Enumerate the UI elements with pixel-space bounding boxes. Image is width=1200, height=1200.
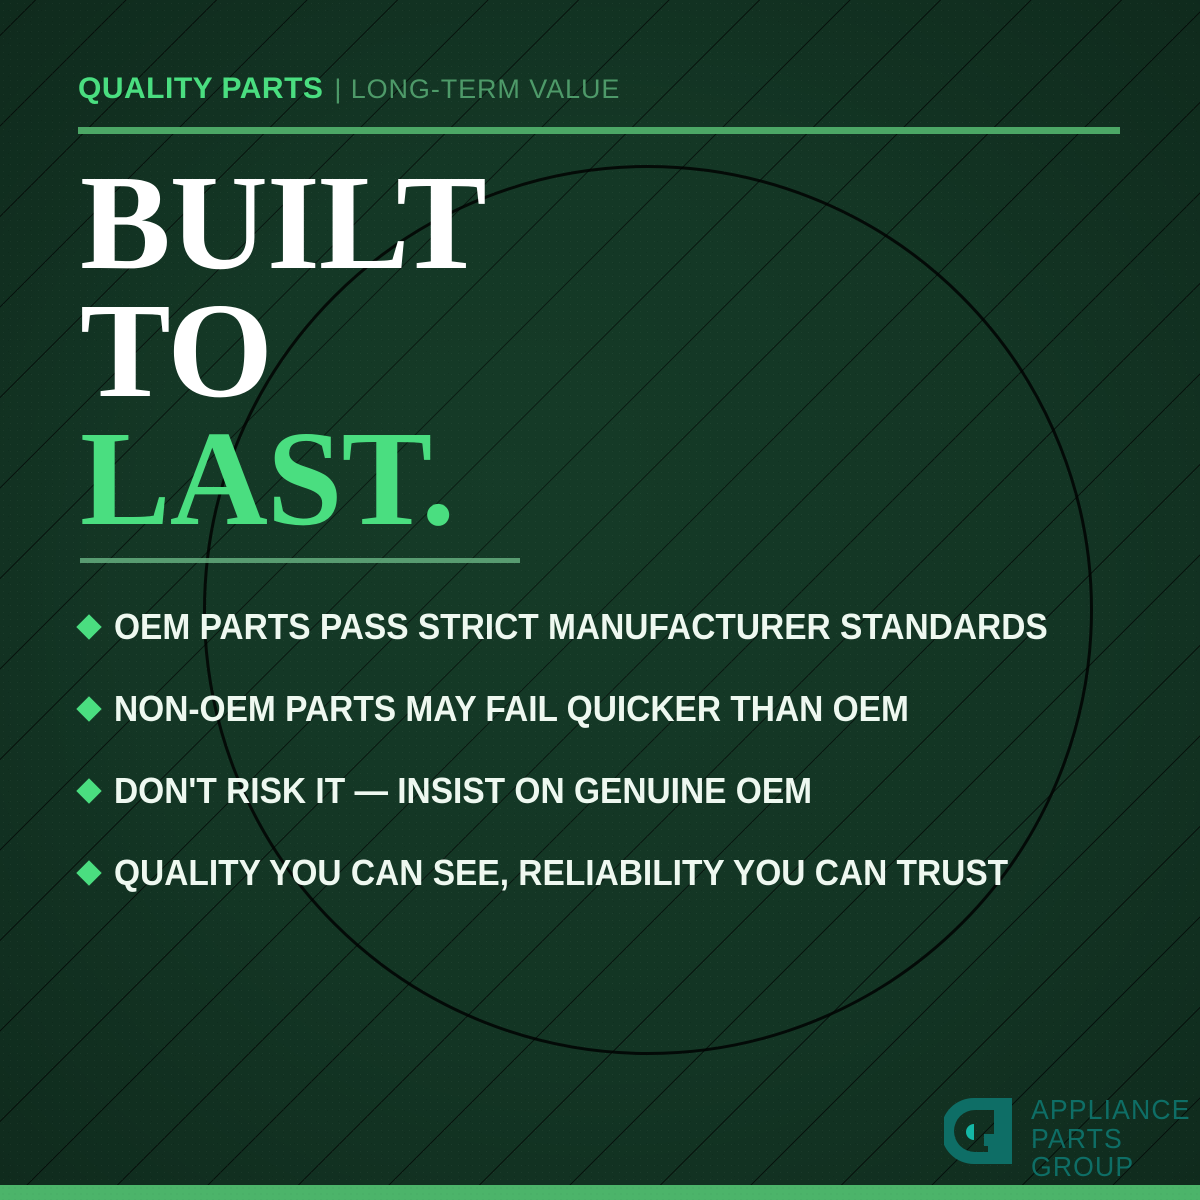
list-item: NON-OEM PARTS MAY FAIL QUICKER THAN OEM bbox=[80, 668, 1165, 750]
list-item-label: DON'T RISK IT — INSIST ON GENUINE OEM bbox=[114, 770, 812, 812]
list-item-label: NON-OEM PARTS MAY FAIL QUICKER THAN OEM bbox=[114, 688, 909, 730]
bottom-accent-bar bbox=[0, 1185, 1200, 1200]
kicker: QUALITY PARTS | LONG-TERM VALUE bbox=[78, 72, 620, 106]
headline: BUILT TO LAST. bbox=[80, 160, 486, 543]
diamond-bullet-icon bbox=[76, 778, 101, 803]
brand-logo: APPLIANCE PARTS GROUP bbox=[944, 1094, 1199, 1182]
brand-logo-line-1: APPLIANCE bbox=[1031, 1096, 1191, 1125]
brand-logo-line-3: GROUP bbox=[1031, 1153, 1191, 1182]
kicker-sub-label: | LONG-TERM VALUE bbox=[334, 74, 620, 105]
headline-line-1: BUILT bbox=[80, 160, 486, 288]
bottom-accent-bar-texture bbox=[0, 1185, 1200, 1200]
headline-divider-rule bbox=[80, 558, 520, 563]
list-item: OEM PARTS PASS STRICT MANUFACTURER STAND… bbox=[80, 586, 1165, 668]
kicker-main-label: QUALITY PARTS bbox=[78, 72, 323, 106]
diamond-bullet-icon bbox=[76, 696, 101, 721]
headline-line-2: TO bbox=[80, 288, 486, 416]
list-item: DON'T RISK IT — INSIST ON GENUINE OEM bbox=[80, 750, 1165, 832]
list-item-label: OEM PARTS PASS STRICT MANUFACTURER STAND… bbox=[114, 606, 1048, 648]
header-divider-rule bbox=[78, 127, 1120, 134]
list-item-label: QUALITY YOU CAN SEE, RELIABILITY YOU CAN… bbox=[114, 852, 1008, 894]
benefit-list: OEM PARTS PASS STRICT MANUFACTURER STAND… bbox=[80, 586, 1165, 914]
poster-canvas: QUALITY PARTS | LONG-TERM VALUE BUILT TO… bbox=[0, 0, 1200, 1200]
list-item: QUALITY YOU CAN SEE, RELIABILITY YOU CAN… bbox=[80, 832, 1165, 914]
diamond-bullet-icon bbox=[76, 860, 101, 885]
brand-logo-wordmark: APPLIANCE PARTS GROUP bbox=[1031, 1094, 1199, 1182]
diamond-bullet-icon bbox=[76, 614, 101, 639]
headline-line-3-accent: LAST. bbox=[80, 416, 486, 544]
brand-logo-line-2: PARTS bbox=[1031, 1125, 1191, 1154]
appliance-parts-group-g-mark-icon bbox=[944, 1094, 1018, 1168]
